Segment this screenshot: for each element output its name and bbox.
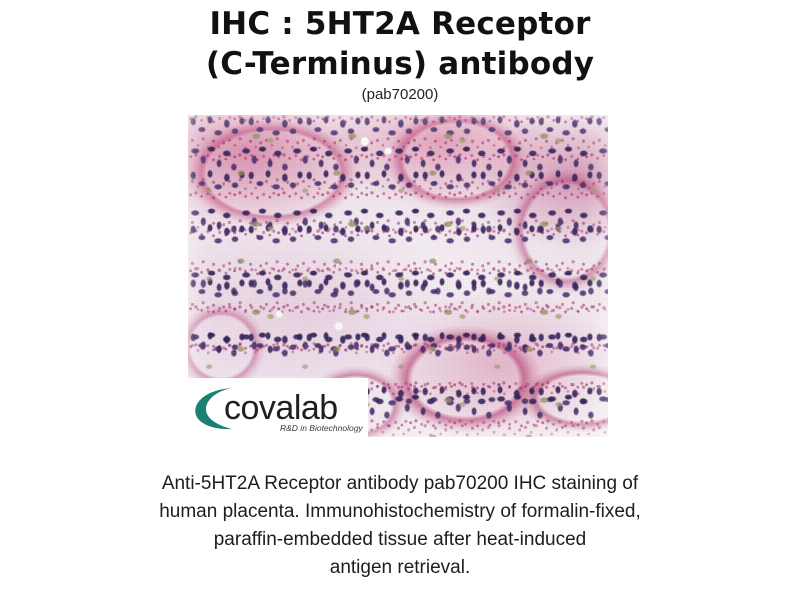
covalab-logo-svg: covalab R&D in Biotechnology bbox=[188, 378, 368, 437]
caption-line-3: paraffin-embedded tissue after heat-indu… bbox=[78, 526, 722, 554]
page-title-line-1: IHC : 5HT2A Receptor bbox=[0, 4, 800, 44]
ihc-micrograph-image: covalab R&D in Biotechnology bbox=[188, 115, 608, 437]
covalab-logo-watermark: covalab R&D in Biotechnology bbox=[188, 378, 368, 437]
caption-line-1: Anti-5HT2A Receptor antibody pab70200 IH… bbox=[78, 470, 722, 498]
figure-title-block: IHC : 5HT2A Receptor (C-Terminus) antibo… bbox=[0, 4, 800, 105]
page-title-line-2: (C-Terminus) antibody bbox=[0, 44, 800, 84]
catalog-number: (pab70200) bbox=[0, 85, 800, 105]
figure-caption: Anti-5HT2A Receptor antibody pab70200 IH… bbox=[78, 470, 722, 582]
logo-wordmark: covalab bbox=[224, 389, 338, 427]
logo-tagline: R&D in Biotechnology bbox=[280, 423, 363, 433]
caption-line-2: human placenta. Immunohistochemistry of … bbox=[78, 498, 722, 526]
caption-line-4: antigen retrieval. bbox=[78, 554, 722, 582]
